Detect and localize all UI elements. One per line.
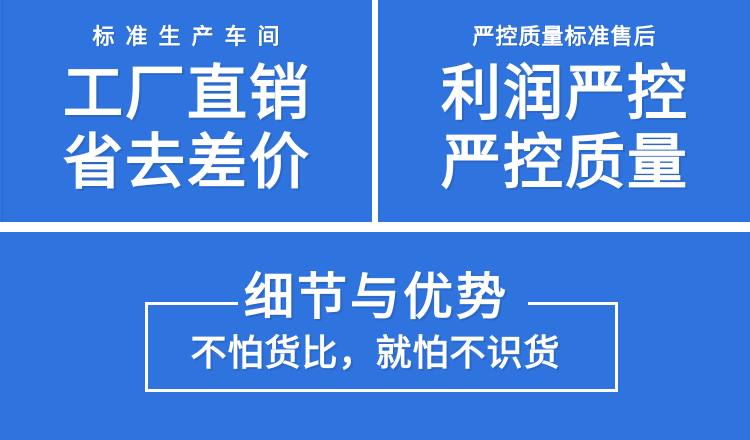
panel-quality-control-headline-line1: 利润严控 <box>439 62 689 127</box>
panel-quality-control-kicker: 严控质量标准售后 <box>471 26 656 48</box>
panel-factory-direct-headline-line1: 工厂直销 <box>61 62 311 127</box>
panel-factory-direct-headline-line2: 省去差价 <box>61 131 311 196</box>
panel-details-advantages: 细节与优势 不怕货比，就怕不识货 <box>0 232 750 440</box>
panel-factory-direct-kicker: 标准生产车间 <box>81 26 290 48</box>
promo-banner: 标准生产车间 工厂直销 省去差价 严控质量标准售后 利润严控 严控质量 细节与优… <box>0 0 750 440</box>
panel-quality-control-content: 严控质量标准售后 利润严控 严控质量 <box>378 0 750 222</box>
feature-subtitle: 不怕货比，就怕不识货 <box>0 335 750 371</box>
panel-quality-control: 严控质量标准售后 利润严控 严控质量 <box>378 0 750 222</box>
panel-factory-direct-content: 标准生产车间 工厂直销 省去差价 <box>0 0 372 222</box>
panel-factory-direct: 标准生产车间 工厂直销 省去差价 <box>0 0 372 222</box>
panel-quality-control-headline-line2: 严控质量 <box>439 131 689 196</box>
feature-title: 细节与优势 <box>0 272 750 322</box>
panel-details-advantages-content: 细节与优势 不怕货比，就怕不识货 <box>0 232 750 440</box>
